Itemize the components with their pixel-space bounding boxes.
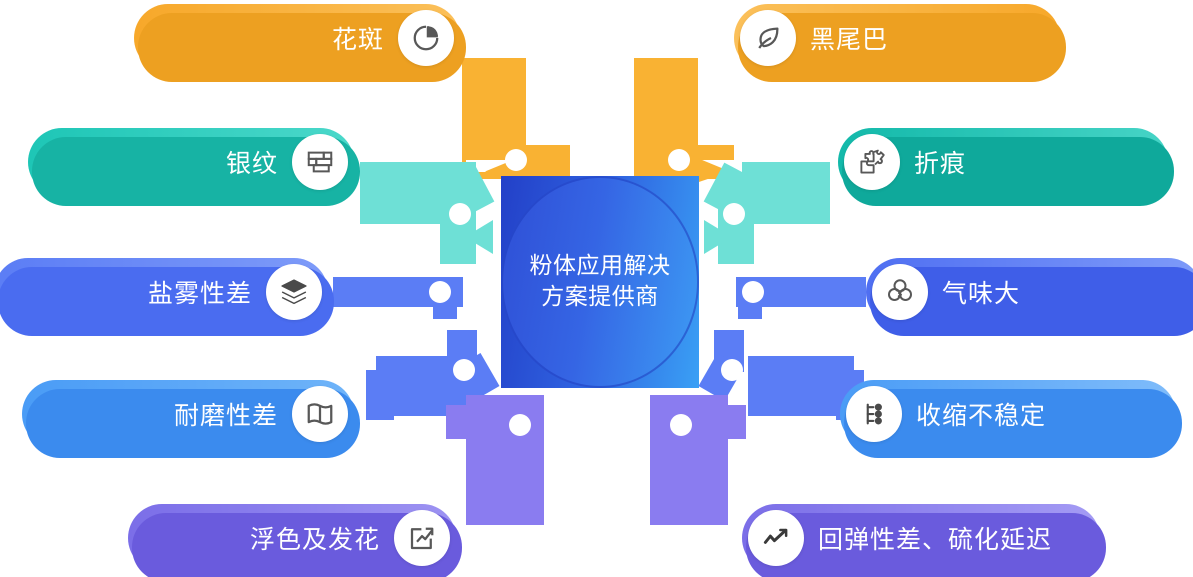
node-label: 回弹性差、硫化延迟 [818, 520, 1052, 556]
node-yin-wen[interactable]: 银纹 [28, 128, 354, 196]
node-label: 黑尾巴 [810, 20, 888, 56]
node-hua-ban[interactable]: 花斑 [134, 4, 460, 72]
leaf-icon [740, 10, 796, 66]
node-label: 收缩不稳定 [916, 396, 1046, 432]
node-zhe-hen[interactable]: 折痕 [838, 128, 1168, 196]
map-icon [292, 386, 348, 442]
node-hei-wei-ba[interactable]: 黑尾巴 [734, 4, 1060, 72]
node-fu-se-fa-hua[interactable]: 浮色及发花 [128, 504, 456, 572]
node-label: 花斑 [332, 20, 384, 56]
layers-icon [266, 264, 322, 320]
node-qi-wei-da[interactable]: 气味大 [866, 258, 1193, 326]
trend-line-icon [748, 510, 804, 566]
center-label: 粉体应用解决 方案提供商 [501, 176, 699, 388]
node-label: 气味大 [942, 274, 1020, 310]
node-hui-tan-xing[interactable]: 回弹性差、硫化延迟 [742, 504, 1100, 572]
node-nai-mo-xing-cha[interactable]: 耐磨性差 [22, 380, 354, 448]
node-label: 银纹 [226, 144, 278, 180]
node-label: 耐磨性差 [174, 396, 278, 432]
brick-wall-icon [292, 134, 348, 190]
diagram-canvas: 粉体应用解决 方案提供商 花斑 银纹 盐雾性差 [0, 0, 1193, 577]
trend-box-icon [394, 510, 450, 566]
node-yan-wu-xing-cha[interactable]: 盐雾性差 [0, 258, 328, 326]
node-label: 浮色及发花 [250, 520, 380, 556]
puzzle-icon [844, 134, 900, 190]
sitemap-icon [846, 386, 902, 442]
node-shou-suo[interactable]: 收缩不稳定 [840, 380, 1176, 448]
node-label: 折痕 [914, 144, 966, 180]
center-node: 粉体应用解决 方案提供商 [501, 176, 699, 388]
recycle-icon [872, 264, 928, 320]
node-label: 盐雾性差 [148, 274, 252, 310]
pie-chart-icon [398, 10, 454, 66]
